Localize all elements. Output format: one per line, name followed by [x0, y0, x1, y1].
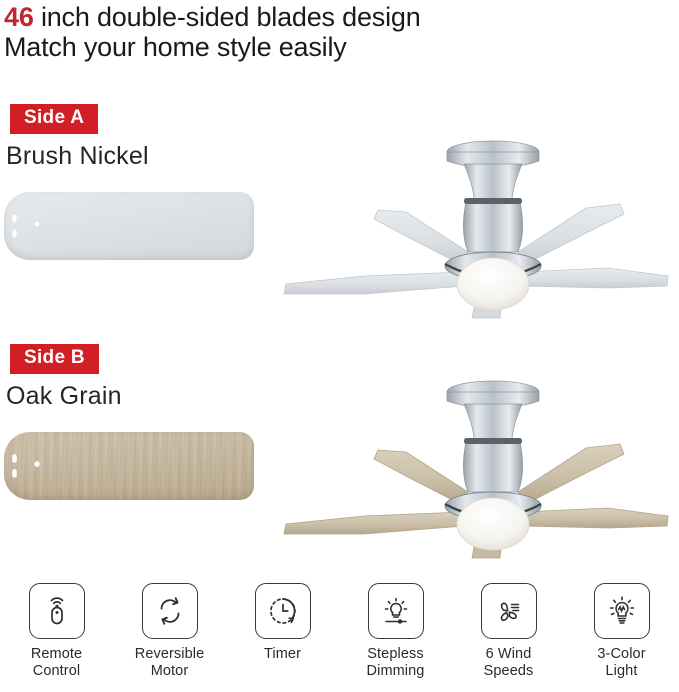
feature-label: Reversible Motor	[135, 646, 205, 680]
feature-label: Stepless Dimming	[367, 646, 425, 680]
headline-size-number: 46	[4, 2, 34, 32]
feature-icon-row: Remote Control Reversible Motor Timer	[0, 583, 679, 680]
side-b-badge: Side B	[10, 344, 99, 374]
remote-control-icon	[40, 594, 74, 628]
ceiling-fan-brush-nickel	[268, 104, 679, 319]
feature-color-light: 3-Color Light	[565, 583, 678, 680]
headline-line-1: 46 inch double-sided blades design	[4, 2, 664, 32]
feature-remote-control: Remote Control	[0, 583, 113, 680]
feature-icon-box	[481, 583, 537, 639]
feature-timer: Timer	[226, 583, 339, 680]
feature-icon-box	[368, 583, 424, 639]
fan-illustration	[268, 344, 679, 559]
feature-icon-box	[29, 583, 85, 639]
timer-icon	[266, 594, 300, 628]
feature-label: Remote Control	[31, 646, 82, 680]
blade-screw-hole	[34, 461, 40, 467]
page-headline: 46 inch double-sided blades design Match…	[4, 2, 664, 63]
oak-grain-blade-swatch	[4, 432, 254, 500]
side-b-title: Oak Grain	[6, 382, 122, 411]
fan-illustration	[268, 104, 679, 319]
stepless-dimming-icon	[379, 594, 413, 628]
feature-icon-box	[255, 583, 311, 639]
blade-mount-hole	[12, 454, 17, 463]
feature-stepless-dimming: Stepless Dimming	[339, 583, 452, 680]
reversible-motor-icon	[153, 594, 187, 628]
side-a-title: Brush Nickel	[6, 142, 149, 171]
brush-nickel-blade-swatch	[4, 192, 254, 260]
ceiling-fan-oak-grain	[268, 344, 679, 559]
feature-wind-speeds: 6 Wind Speeds	[452, 583, 565, 680]
headline-line-2: Match your home style easily	[4, 32, 664, 63]
blade-screw-hole	[34, 221, 40, 227]
feature-label: 6 Wind Speeds	[484, 646, 534, 680]
wind-speeds-icon	[492, 594, 526, 628]
blade-mount-hole	[12, 469, 17, 478]
headline-line-1-rest: inch double-sided blades design	[34, 2, 421, 32]
feature-reversible-motor: Reversible Motor	[113, 583, 226, 680]
blade-mount-hole	[12, 214, 17, 223]
feature-label: Timer	[264, 646, 301, 663]
feature-icon-box	[594, 583, 650, 639]
feature-label: 3-Color Light	[597, 646, 645, 680]
feature-icon-box	[142, 583, 198, 639]
color-light-icon	[605, 594, 639, 628]
side-a-badge: Side A	[10, 104, 98, 134]
blade-mount-hole	[12, 229, 17, 238]
